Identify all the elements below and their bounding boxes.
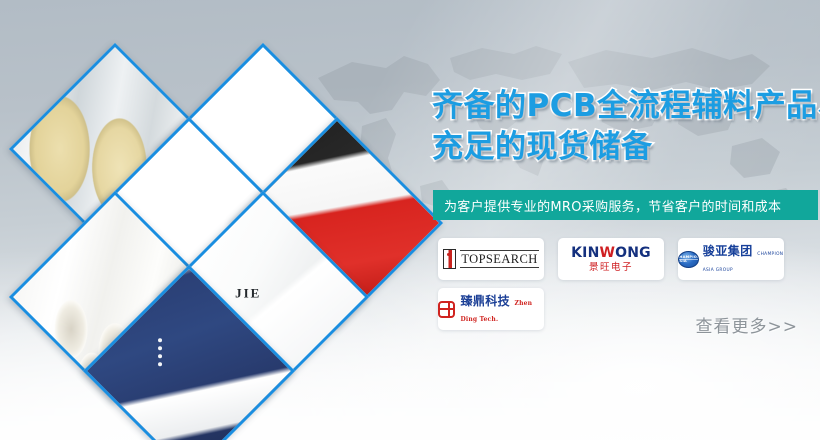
kinwong-wordmark-part-2: ONG	[615, 245, 651, 261]
headline-line-1: 齐备的PCB全流程辅料产品、	[432, 86, 820, 127]
product-tile-label: JIE	[235, 286, 261, 302]
partner-logo-zhen-ding[interactable]: 臻鼎科技 Zhen Ding Tech.	[438, 288, 544, 330]
headline: 齐备的PCB全流程辅料产品、 充足的现货储备	[432, 86, 820, 168]
partner-logo-topsearch[interactable]: TOPSEARCH	[438, 238, 544, 280]
topsearch-mark-icon	[443, 249, 456, 269]
champion-asia-chinese-name: 骏亚集团	[703, 244, 753, 258]
kinwong-wordmark-part-1: KIN	[571, 245, 599, 261]
kinwong-chinese-name: 景旺电子	[571, 263, 651, 273]
globe-icon: CHAMPION ASIA	[678, 251, 699, 268]
view-more-link[interactable]: 查看更多>>	[696, 312, 799, 337]
globe-icon-text: CHAMPION ASIA	[678, 255, 699, 263]
topsearch-wordmark: TOPSEARCH	[460, 250, 538, 267]
subtitle-text: 为客户提供专业的MRO采购服务，节省客户的时间和成本	[444, 196, 781, 215]
partner-logo-kinwong[interactable]: KINWONG 景旺电子	[558, 238, 664, 280]
partner-logo-champion-asia[interactable]: CHAMPION ASIA 骏亚集团 CHAMPION ASIA GROUP	[678, 238, 784, 280]
banner-content: 齐备的PCB全流程辅料产品、 充足的现货储备 为客户提供专业的MRO采购服务，节…	[430, 0, 820, 440]
product-image-collage: JIE	[0, 0, 450, 440]
kinwong-wordmark-accent: W	[600, 245, 616, 261]
subtitle-bar: 为客户提供专业的MRO采购服务，节省客户的时间和成本	[433, 190, 818, 220]
zhen-ding-chinese-name: 臻鼎科技	[460, 294, 510, 308]
zhen-ding-monogram-icon	[438, 301, 455, 318]
panel-registration-dots	[153, 334, 162, 370]
kinwong-wordmark: KINWONG	[571, 246, 651, 260]
promo-banner: JIE 齐备的PCB全流程辅料产品、 充足的现货储备 为客户提供专业的MRO采购…	[0, 0, 820, 440]
headline-line-2: 充足的现货储备	[432, 127, 820, 168]
